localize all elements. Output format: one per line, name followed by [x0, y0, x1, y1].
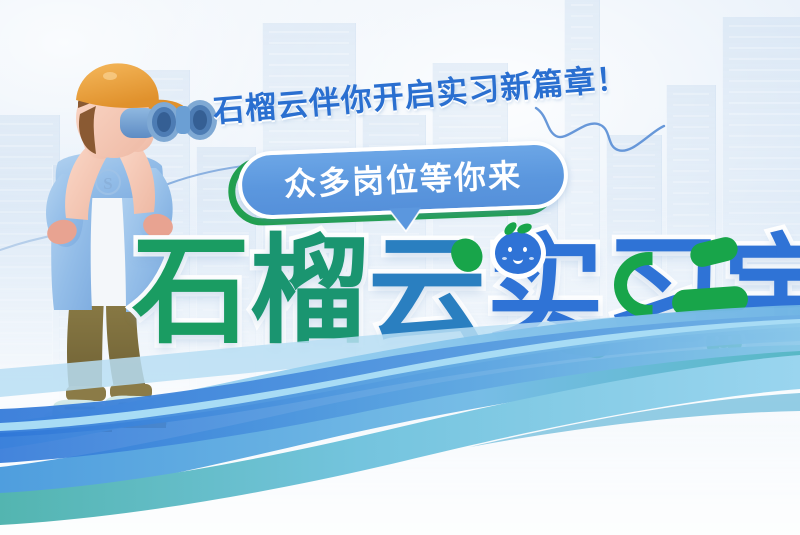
promo-banner: S 石榴云伴你开启实习新篇章！: [0, 0, 800, 535]
svg-text:S: S: [103, 174, 112, 193]
blue-dot-decoration: [766, 246, 777, 257]
wave-ribbons: [0, 305, 800, 535]
eye: [523, 247, 527, 252]
pill-badge[interactable]: 众多岗位等你来: [237, 140, 569, 221]
blush: [529, 257, 534, 260]
eye: [508, 247, 512, 252]
smile-mouth: [513, 255, 523, 264]
blush: [502, 257, 507, 260]
pill-label: 众多岗位等你来: [283, 159, 522, 200]
berry-mascot-icon: [495, 232, 541, 274]
